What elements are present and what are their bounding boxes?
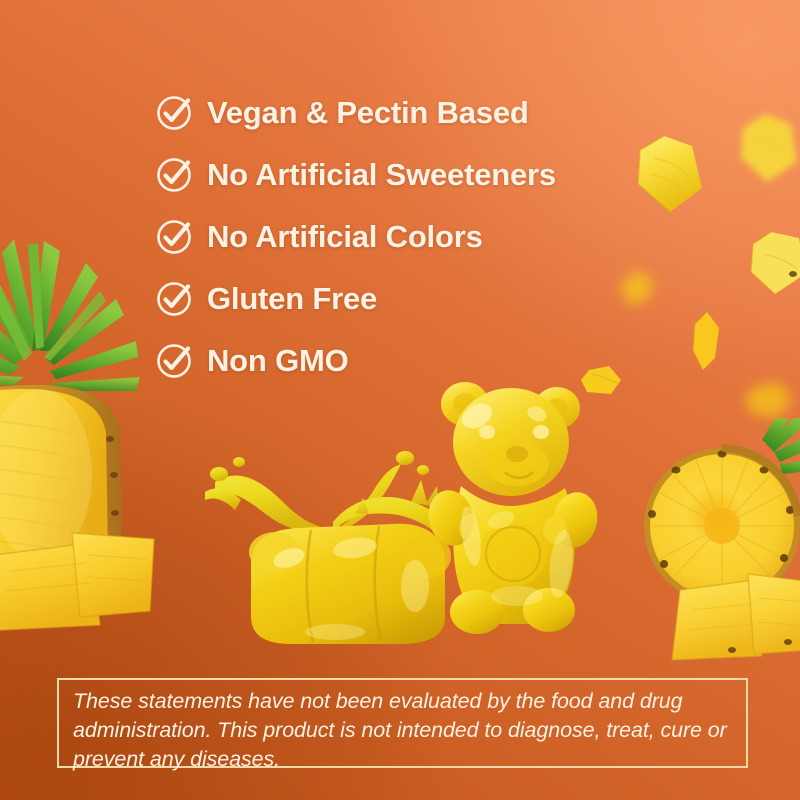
- feature-list: Vegan & Pectin Based No Artificial Sweet…: [155, 82, 556, 392]
- feature-item-gluten-free: Gluten Free: [155, 268, 556, 330]
- check-circle-icon: [155, 280, 193, 318]
- pineapple-chunk-7: [742, 380, 796, 429]
- gummy-bear-lying-with-splash-image: [205, 440, 480, 645]
- disclaimer-text: These statements have not been evaluated…: [73, 687, 732, 774]
- disclaimer-box: These statements have not been evaluated…: [57, 678, 748, 768]
- pineapple-slice-image: [638, 418, 800, 668]
- pineapple-chunk-1: [630, 130, 710, 225]
- check-circle-icon: [155, 156, 193, 194]
- feature-label: No Artificial Colors: [207, 219, 483, 255]
- pineapple-chunk-4: [685, 310, 727, 377]
- product-poster: Vegan & Pectin Based No Artificial Sweet…: [0, 0, 800, 800]
- pineapple-chunk-2: [735, 110, 800, 195]
- gummy-bear-standing-image: [425, 368, 600, 636]
- feature-item-no-artificial-sweeteners: No Artificial Sweeteners: [155, 144, 556, 206]
- feature-label: Vegan & Pectin Based: [207, 95, 529, 131]
- feature-label: Gluten Free: [207, 281, 377, 317]
- pineapple-chunk-5: [616, 266, 662, 317]
- feature-label: No Artificial Sweeteners: [207, 157, 556, 193]
- pineapple-chunk-6: [577, 362, 625, 407]
- feature-item-no-artificial-colors: No Artificial Colors: [155, 206, 556, 268]
- check-circle-icon: [155, 342, 193, 380]
- check-circle-icon: [155, 218, 193, 256]
- pineapple-chunk-3: [745, 228, 800, 307]
- feature-item-vegan-pectin-based: Vegan & Pectin Based: [155, 82, 556, 144]
- feature-item-non-gmo: Non GMO: [155, 330, 556, 392]
- check-circle-icon: [155, 94, 193, 132]
- feature-label: Non GMO: [207, 343, 349, 379]
